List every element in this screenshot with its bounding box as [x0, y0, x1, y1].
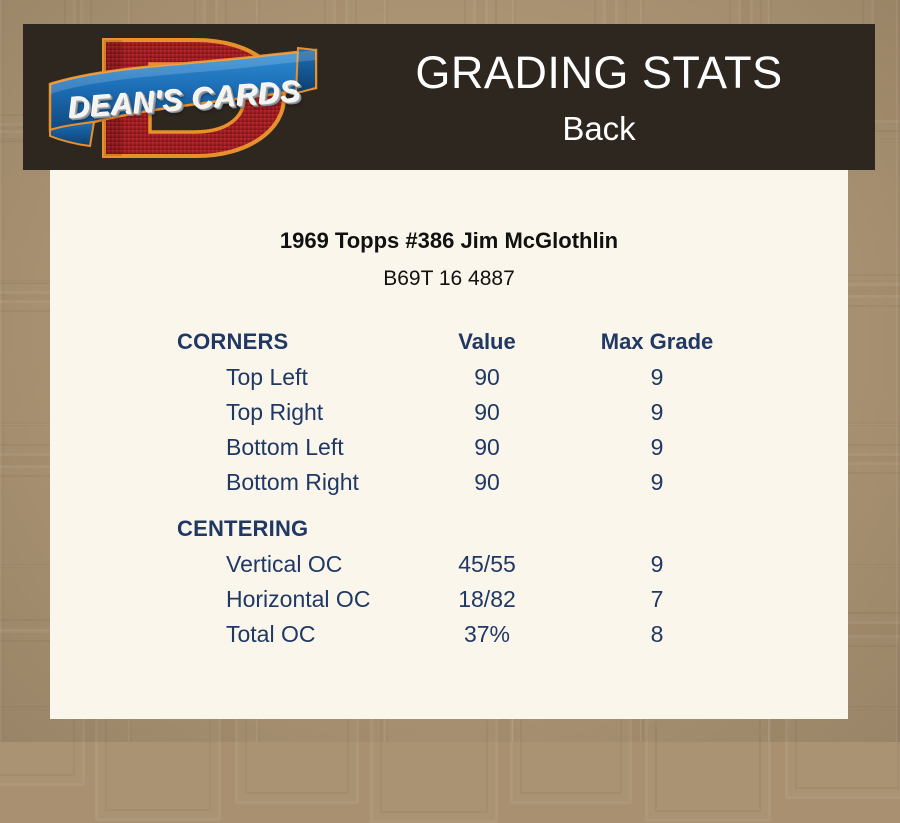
row-max-grade: 9 — [562, 434, 752, 461]
row-label: Vertical OC — [50, 551, 412, 578]
column-header-max-grade: Max Grade — [562, 329, 752, 355]
section-header-row: CORNERSValueMax Grade — [50, 329, 848, 364]
row-value: 45/55 — [412, 551, 562, 578]
table-row: Vertical OC45/559 — [50, 551, 848, 586]
section-title: CORNERS — [50, 329, 412, 355]
table-row: Top Right909 — [50, 399, 848, 434]
row-max-grade: 9 — [562, 399, 752, 426]
card-title: 1969 Topps #386 Jim McGlothlin — [50, 230, 848, 252]
row-label: Total OC — [50, 621, 412, 648]
table-row: Horizontal OC18/827 — [50, 586, 848, 621]
content-panel: 1969 Topps #386 Jim McGlothlin B69T 16 4… — [50, 170, 848, 719]
column-header-value: Value — [412, 329, 562, 355]
deans-cards-logo-icon — [46, 26, 321, 170]
section-title: CENTERING — [50, 516, 412, 542]
row-value: 90 — [412, 434, 562, 461]
row-max-grade: 7 — [562, 586, 752, 613]
row-value: 18/82 — [412, 586, 562, 613]
stat-section-centering: CENTERINGVertical OC45/559Horizontal OC1… — [50, 516, 848, 656]
header-titles: GRADING STATS Back — [323, 24, 875, 170]
page-title: GRADING STATS — [415, 50, 782, 95]
row-value: 90 — [412, 364, 562, 391]
section-header-row: CENTERING — [50, 516, 848, 551]
row-max-grade: 9 — [562, 551, 752, 578]
row-max-grade: 9 — [562, 364, 752, 391]
table-row: Top Left909 — [50, 364, 848, 399]
table-row: Total OC37%8 — [50, 621, 848, 656]
row-value: 37% — [412, 621, 562, 648]
grading-stats-sheet: DEAN'S CARDS GRADING STATS Back 1969 Top… — [23, 24, 875, 719]
row-label: Top Left — [50, 364, 412, 391]
row-label: Bottom Right — [50, 469, 412, 496]
grading-stats-table: CORNERSValueMax GradeTop Left909Top Righ… — [50, 329, 848, 656]
stat-section-corners: CORNERSValueMax GradeTop Left909Top Righ… — [50, 329, 848, 504]
row-value: 90 — [412, 469, 562, 496]
row-value: 90 — [412, 399, 562, 426]
row-label: Top Right — [50, 399, 412, 426]
table-row: Bottom Right909 — [50, 469, 848, 504]
deans-cards-logo: DEAN'S CARDS — [46, 26, 321, 170]
header-bar: DEAN'S CARDS GRADING STATS Back — [23, 24, 875, 170]
row-label: Bottom Left — [50, 434, 412, 461]
row-label: Horizontal OC — [50, 586, 412, 613]
row-max-grade: 8 — [562, 621, 752, 648]
card-identifier: B69T 16 4887 — [50, 268, 848, 289]
page-subtitle: Back — [562, 112, 635, 145]
table-row: Bottom Left909 — [50, 434, 848, 469]
row-max-grade: 9 — [562, 469, 752, 496]
